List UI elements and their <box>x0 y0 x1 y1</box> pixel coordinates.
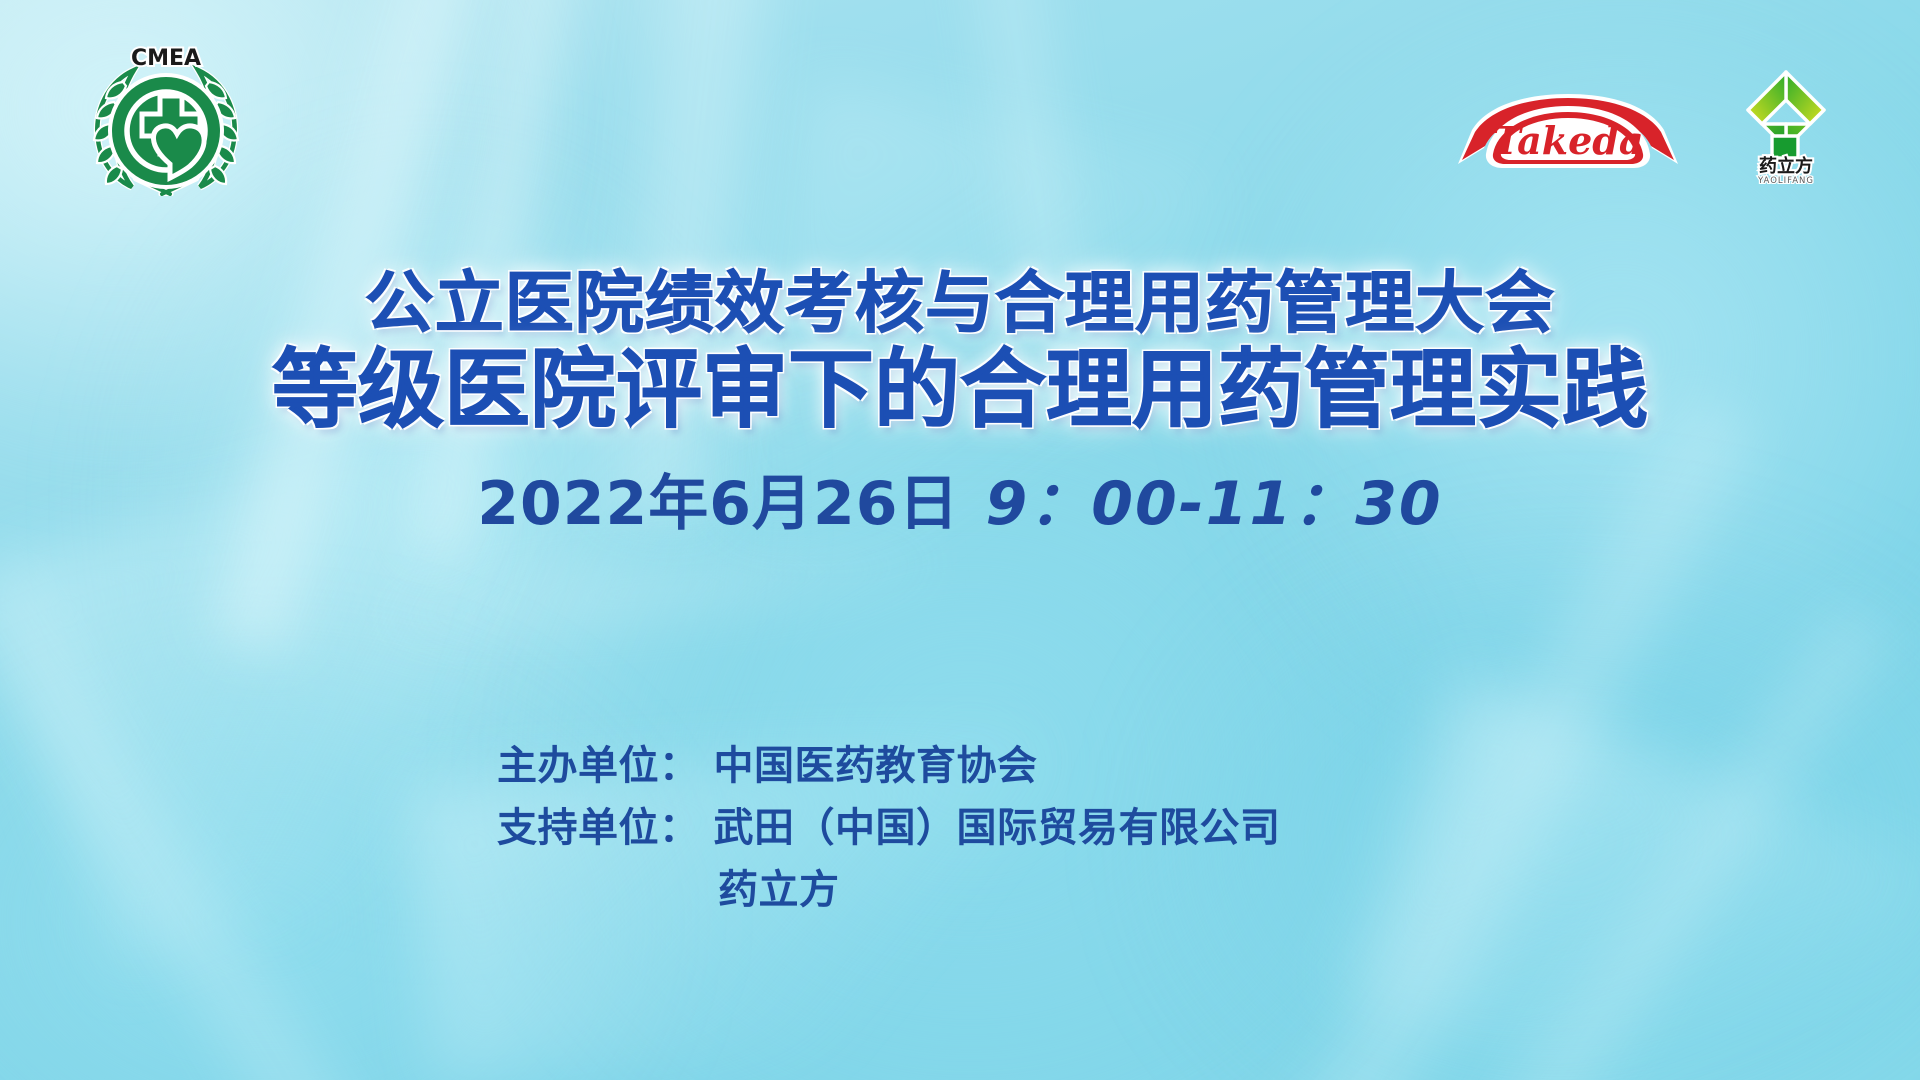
event-date: 2022年6月26日 <box>477 469 959 539</box>
organizer-row: 药立方 <box>497 859 1281 921</box>
organizer-label: 支持单位： <box>497 797 700 859</box>
organizer-value: 药立方 <box>718 859 840 921</box>
takeda-wordmark-text: Takeda <box>1493 118 1644 163</box>
organizer-block: 主办单位：中国医药教育协会 支持单位：武田（中国）国际贸易有限公司 药立方 <box>497 735 1281 921</box>
takeda-logo: Takeda <box>1452 92 1684 172</box>
yaolifang-cn-text: 药立方 <box>1759 155 1813 177</box>
title-block: 公立医院绩效考核与合理用药管理大会 等级医院评审下的合理用药管理实践 <box>0 268 1920 436</box>
yaolifang-diamond-icon <box>1748 72 1824 158</box>
organizer-row: 主办单位：中国医药教育协会 <box>497 735 1281 797</box>
event-time: 9：00-11：30 <box>986 469 1443 539</box>
background-light-streak <box>1426 596 1903 1080</box>
yaolifang-en-text: YAOLIFANG <box>1757 176 1814 184</box>
cmea-acronym-text: CMEA <box>131 46 201 71</box>
organizer-value: 中国医药教育协会 <box>714 735 1038 797</box>
conference-title-line2: 等级医院评审下的合理用药管理实践 <box>0 345 1920 436</box>
event-datetime: 2022年6月26日9：00-11：30 <box>0 455 1920 542</box>
conference-title-line1: 公立医院绩效考核与合理用药管理大会 <box>0 268 1920 339</box>
background-light-streak <box>0 549 423 1080</box>
background-light-streak <box>584 0 806 526</box>
organizer-label: 主办单位： <box>497 735 700 797</box>
cmea-logo: CMEA <box>78 36 254 196</box>
cmea-emblem-icon <box>108 73 224 189</box>
organizer-value: 武田（中国）国际贸易有限公司 <box>714 797 1281 859</box>
background-blob <box>1180 520 1920 1080</box>
background-facet <box>1335 675 1920 1080</box>
event-poster: CMEA Takeda <box>0 0 1920 1080</box>
yaolifang-logo: 药立方 YAOLIFANG <box>1724 62 1848 184</box>
background-light-streak <box>359 529 962 651</box>
organizer-row: 支持单位：武田（中国）国际贸易有限公司 <box>497 797 1281 859</box>
